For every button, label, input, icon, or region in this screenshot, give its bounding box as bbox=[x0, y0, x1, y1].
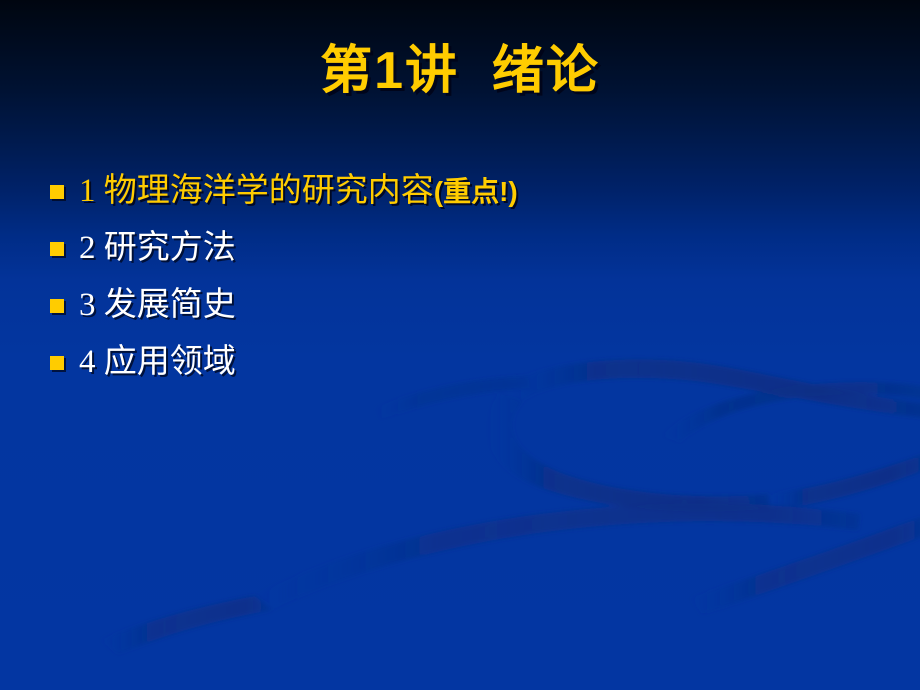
list-item-spacer bbox=[96, 173, 104, 209]
list-item-spacer bbox=[96, 287, 104, 323]
list-item-label: 3 发展简史 bbox=[79, 289, 890, 322]
list-item[interactable]: 2 研究方法 bbox=[50, 220, 890, 277]
list-item[interactable]: 1 物理海洋学的研究内容(重点!) bbox=[50, 163, 890, 220]
list-item-label: 2 研究方法 bbox=[79, 232, 890, 265]
square-bullet-icon bbox=[50, 242, 64, 256]
list-item[interactable]: 4 应用领域 bbox=[50, 334, 890, 391]
list-item-text: 研究方法 bbox=[104, 230, 236, 266]
slide-title-block: 第1讲 绪论 bbox=[0, 44, 920, 99]
list-item-text: 发展简史 bbox=[104, 287, 236, 323]
bullet-list: 1 物理海洋学的研究内容(重点!) 2 研究方法 3 发展简史 4 应用领域 bbox=[50, 163, 890, 391]
list-item-number: 1 bbox=[79, 173, 96, 209]
list-item-number: 4 bbox=[79, 344, 96, 380]
list-item-spacer bbox=[96, 344, 104, 380]
list-item-emphasis: (重点!) bbox=[434, 176, 518, 207]
list-item-number: 3 bbox=[79, 287, 96, 323]
square-bullet-icon bbox=[50, 356, 64, 370]
page-title: 第1讲 绪论 bbox=[320, 44, 600, 99]
list-item[interactable]: 3 发展简史 bbox=[50, 277, 890, 334]
list-item-text: 应用领域 bbox=[104, 344, 236, 380]
presentation-slide: 第1讲 绪论 1 物理海洋学的研究内容(重点!) 2 研究方法 3 发展简史 4… bbox=[0, 0, 920, 690]
square-bullet-icon bbox=[50, 299, 64, 313]
list-item-number: 2 bbox=[79, 230, 96, 266]
list-item-label: 1 物理海洋学的研究内容(重点!) bbox=[79, 175, 890, 208]
square-bullet-icon bbox=[50, 185, 64, 199]
list-item-text: 物理海洋学的研究内容 bbox=[104, 173, 434, 209]
list-item-spacer bbox=[96, 230, 104, 266]
list-item-label: 4 应用领域 bbox=[79, 346, 890, 379]
